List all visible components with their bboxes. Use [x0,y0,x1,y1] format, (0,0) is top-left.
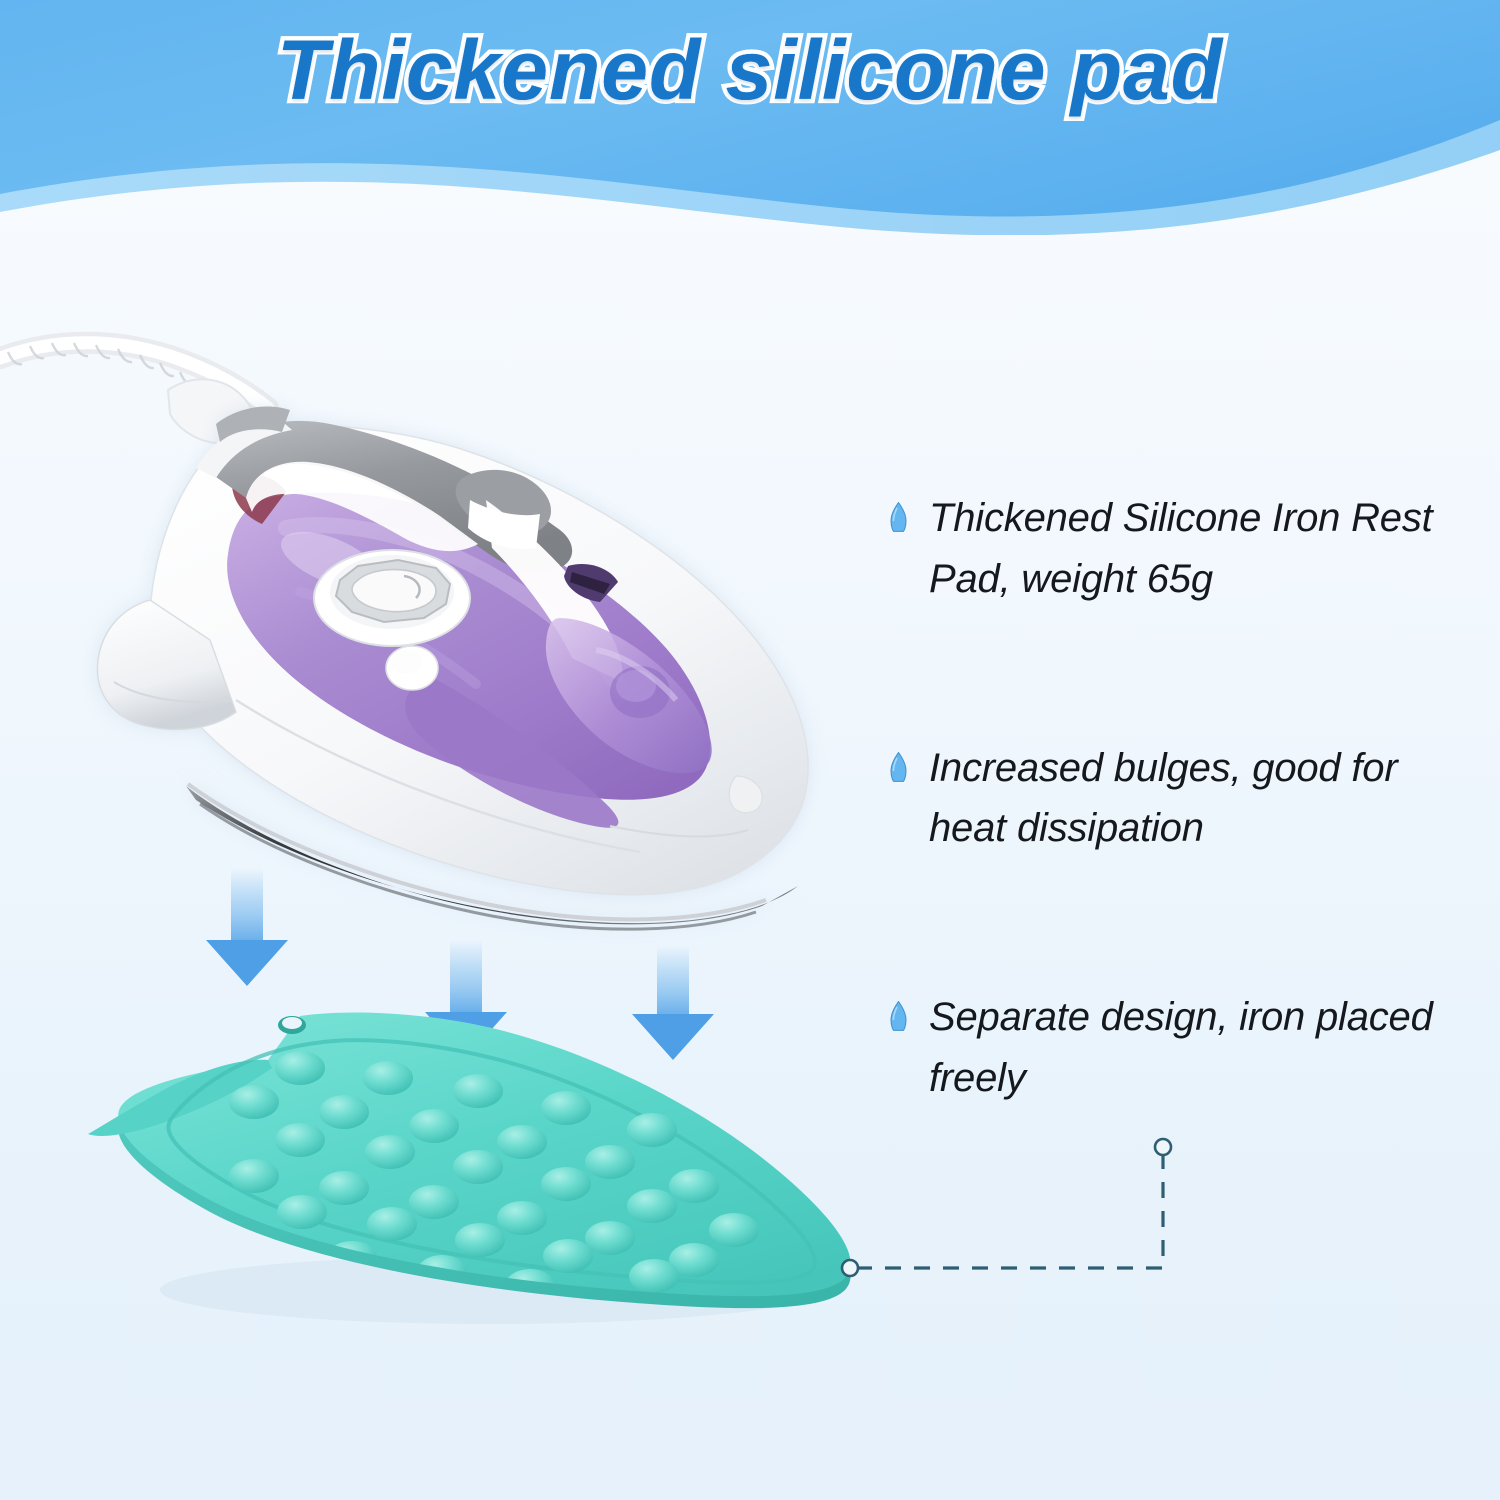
water-drop-icon [890,502,907,532]
feature-item: Separate design, iron placed freely [890,987,1490,1109]
feature-item: Increased bulges, good for heat dissipat… [890,738,1490,860]
direction-arrows-area [200,860,720,1060]
steam-iron-image[interactable] [40,320,840,920]
feature-list: Thickened Silicone Iron Rest Pad, weight… [890,488,1490,1109]
feature-text: Thickened Silicone Iron Rest Pad, weight… [929,488,1474,610]
water-drop-icon [890,752,907,782]
water-drop-icon [890,1001,907,1031]
feature-text: Separate design, iron placed freely [929,987,1474,1109]
feature-text: Increased bulges, good for heat dissipat… [929,738,1474,860]
feature-item: Thickened Silicone Iron Rest Pad, weight… [890,488,1490,610]
product-infographic: Thickened silicone pad Thickened silicon… [0,0,1500,1500]
page-title-outline: Thickened silicone pad [0,22,1500,119]
dimension-callout-area [830,1130,1190,1290]
header-banner: Thickened silicone pad Thickened silicon… [0,0,1500,235]
